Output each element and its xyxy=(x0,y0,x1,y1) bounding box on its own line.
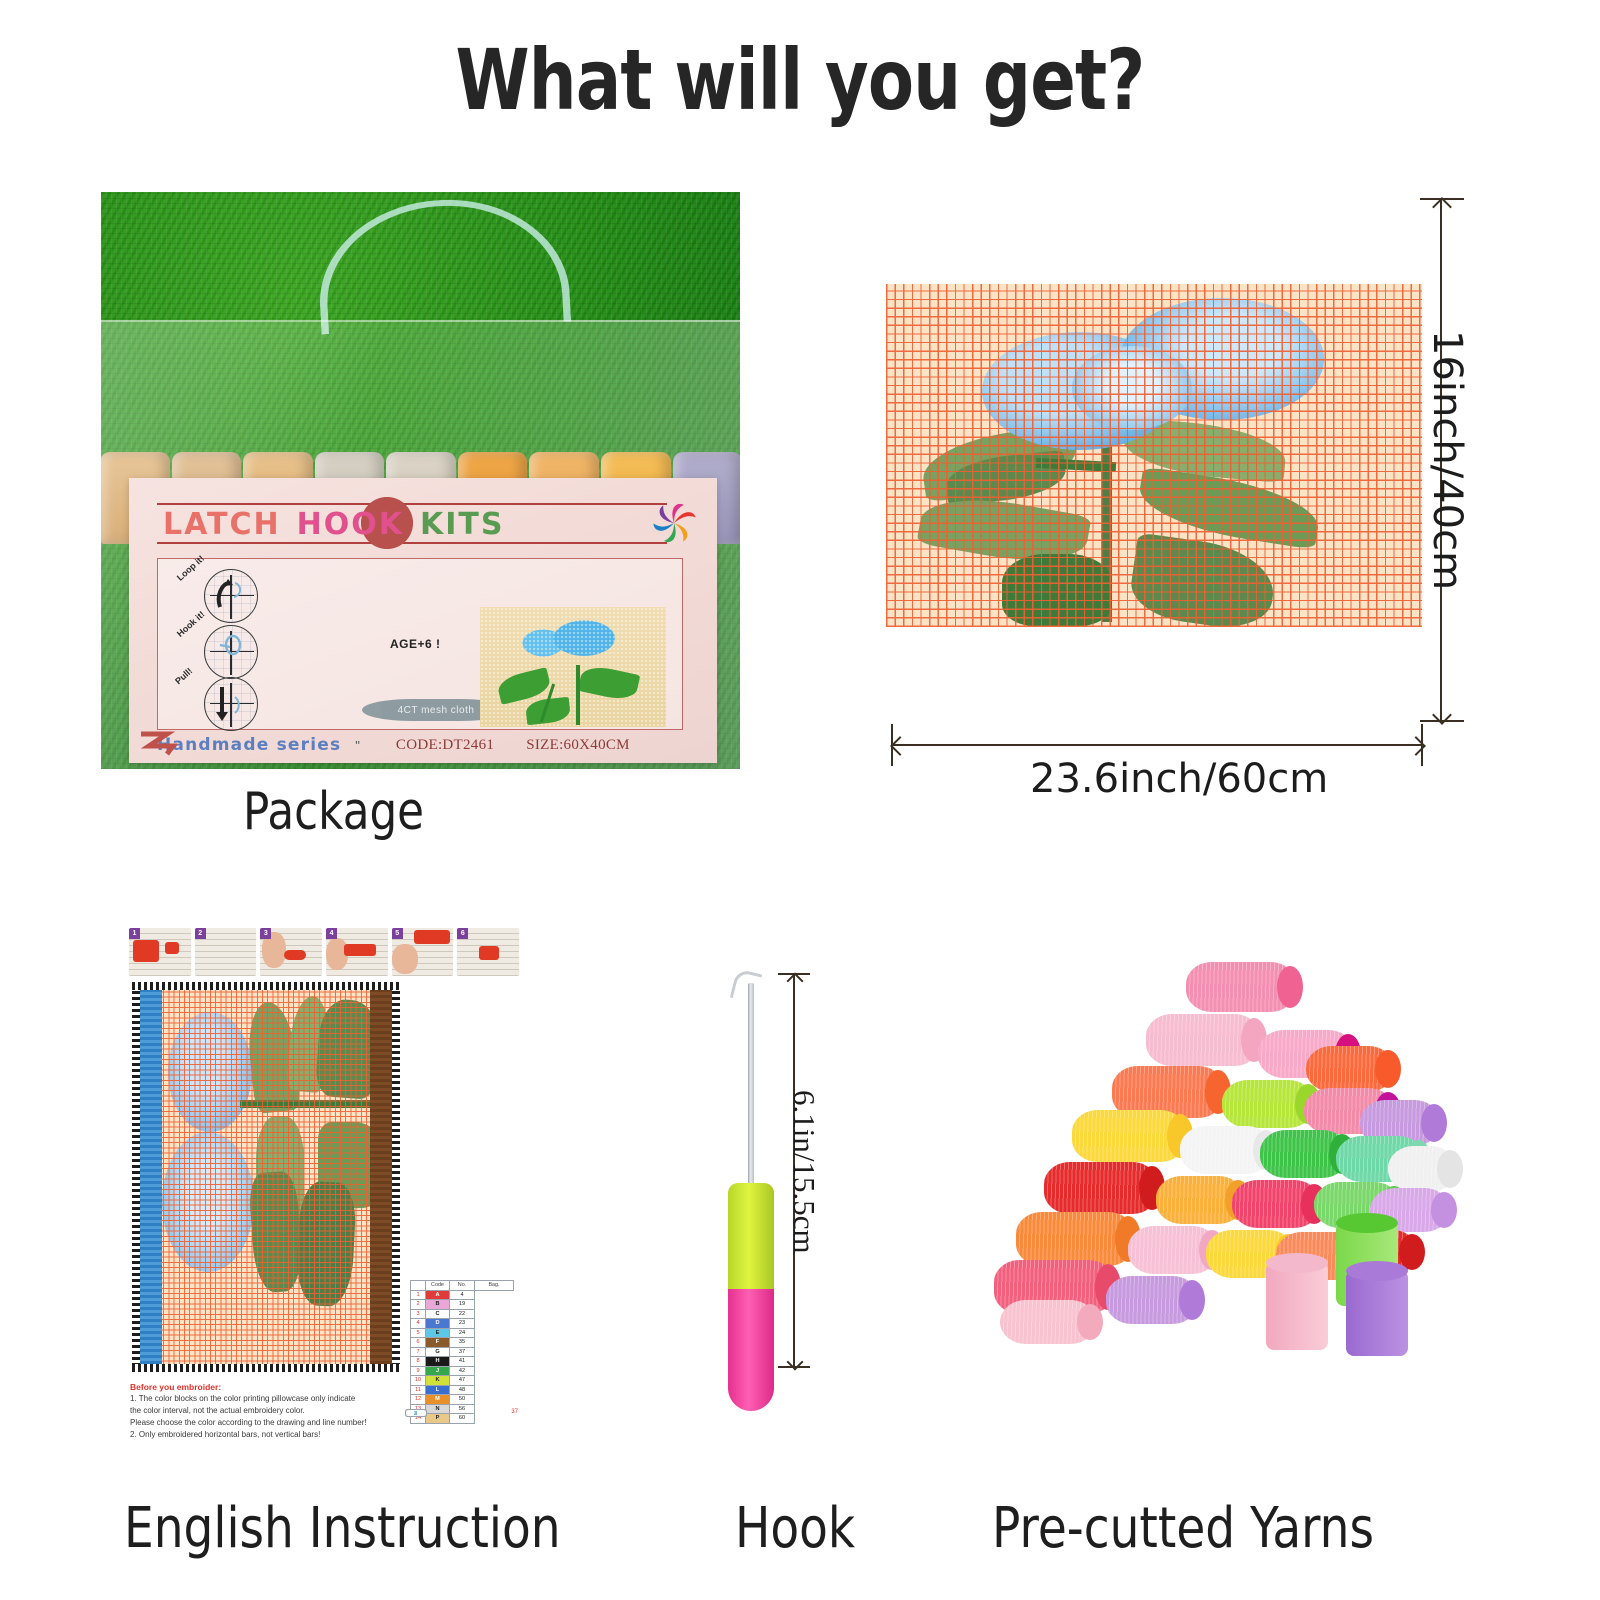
plastic-bag: LATCH HOOK KITS xyxy=(101,320,740,769)
color-swatch: B xyxy=(426,1300,449,1309)
color-swatch: G xyxy=(426,1348,449,1357)
cell-code: A xyxy=(426,1290,450,1300)
pattern-chart xyxy=(132,982,400,1372)
cell-code: B xyxy=(426,1300,450,1310)
cell-index: 5 xyxy=(411,1328,426,1338)
table-row: 9J421 xyxy=(411,1366,514,1376)
cell-index: 3 xyxy=(411,1309,426,1319)
cell-code: D xyxy=(426,1319,450,1329)
color-swatch: M xyxy=(426,1395,449,1404)
label-footer: Handmade series " CODE:DT2461 SIZE:60X40… xyxy=(157,732,687,758)
hook-handle-lower xyxy=(728,1289,774,1411)
cell-index: 11 xyxy=(411,1385,426,1395)
infographic-page: What will you get? xyxy=(0,0,1600,1600)
step-thumbnail: 4 xyxy=(326,928,388,976)
cell-number: 35 xyxy=(450,1338,475,1348)
cell-code: G xyxy=(426,1347,450,1357)
cell-index: 1 xyxy=(411,1290,426,1300)
step-loop-it: Loop it! xyxy=(204,569,258,623)
cell-code: H xyxy=(426,1357,450,1367)
yarn-bundle xyxy=(1388,1146,1456,1192)
printed-canvas xyxy=(886,284,1422,627)
cell-number: 19 xyxy=(450,1300,475,1310)
cell-bag: 3 xyxy=(405,1409,427,1418)
product-code: CODE:DT2461 xyxy=(396,737,494,754)
th-bag: Bag. xyxy=(475,1281,514,1291)
cell-index: 8 xyxy=(411,1357,426,1367)
age-recommendation: AGE+6 ! xyxy=(390,637,441,651)
color-code-table: Code No. Bag. 1A422B1913C2244D2355E2426F… xyxy=(410,1280,514,1424)
step-number: 4 xyxy=(326,928,337,939)
chart-ruler-left xyxy=(132,982,140,1372)
th-no: No. xyxy=(450,1281,475,1291)
chart-ruler-top xyxy=(132,982,400,990)
yarn-bundle xyxy=(1180,1126,1272,1174)
color-table-total: 37 xyxy=(511,1409,518,1415)
cell-code: E xyxy=(426,1328,450,1338)
series-name: Handmade series xyxy=(157,735,341,755)
dim-canvas-width-label: 23.6inch/60cm xyxy=(1030,756,1328,802)
canvas-grid xyxy=(886,284,1422,627)
step-number: 2 xyxy=(195,928,206,939)
yarn-bundle xyxy=(1106,1276,1198,1324)
note-line: the color interval, not the actual embro… xyxy=(130,1405,380,1417)
table-row: 11L483 xyxy=(411,1385,514,1395)
brand-word-kits: KITS xyxy=(420,507,504,542)
color-swatch: F xyxy=(426,1338,449,1347)
step-label: Hook it! xyxy=(175,609,207,639)
cell-code: N xyxy=(426,1404,450,1414)
caption-english-instruction: English Instruction xyxy=(124,1496,561,1561)
yarn-bundle xyxy=(1232,1180,1320,1228)
table-row: 12M503 xyxy=(411,1395,514,1405)
th-code: Code xyxy=(426,1281,450,1291)
package-label: LATCH HOOK KITS xyxy=(129,478,717,763)
chart-left-color-band xyxy=(140,990,162,1364)
color-swatch: L xyxy=(426,1386,449,1395)
yarn-bundle xyxy=(1186,962,1296,1012)
yarn-bundle xyxy=(1156,1176,1244,1224)
cell-number: 41 xyxy=(450,1357,475,1367)
dim-hook-length-label: 6.1in/15.5cm xyxy=(786,1090,822,1254)
cell-number: 48 xyxy=(450,1385,475,1395)
dim-canvas-height-label: 16inch/40cm xyxy=(1424,330,1470,590)
step-hook-it: Hook it! xyxy=(204,625,258,679)
cell-code: L xyxy=(426,1385,450,1395)
table-row: 7G373 xyxy=(411,1347,514,1357)
zigzag-logo-icon xyxy=(137,730,177,756)
table-row: 5E242 xyxy=(411,1328,514,1338)
cell-number: 4 xyxy=(450,1290,475,1300)
color-swatch: C xyxy=(426,1310,449,1319)
product-preview-image xyxy=(480,607,666,727)
table-row: 3C224 xyxy=(411,1309,514,1319)
table-row: 6F353 xyxy=(411,1338,514,1348)
brand-title: LATCH HOOK KITS xyxy=(163,503,673,545)
step-label: Loop it! xyxy=(175,553,206,583)
note-line: Please choose the color according to the… xyxy=(130,1417,380,1429)
hook-diagram-icon xyxy=(204,625,258,679)
caption-precut-yarns: Pre-cutted Yarns xyxy=(992,1496,1374,1561)
label-instruction-box: Loop it! Hook it! xyxy=(157,558,683,730)
color-swatch: H xyxy=(426,1357,449,1366)
hook-handle-upper xyxy=(728,1183,774,1291)
cell-number: 56 xyxy=(450,1404,475,1414)
chart-ruler-bottom xyxy=(132,1364,400,1372)
instruction-sheet: 1 2 3 4 5 xyxy=(124,900,524,1470)
cell-code: F xyxy=(426,1338,450,1348)
package-photo: LATCH HOOK KITS xyxy=(101,192,740,769)
cell-index: 6 xyxy=(411,1338,426,1348)
yarn-bundle xyxy=(1222,1080,1314,1128)
yarn-bundle xyxy=(1000,1300,1096,1344)
table-row: 1A42 xyxy=(411,1290,514,1300)
chart-ruler-right xyxy=(392,982,400,1372)
pattern-chart-grid xyxy=(132,982,400,1372)
cell-index: 4 xyxy=(411,1319,426,1329)
cell-number: 42 xyxy=(450,1366,475,1376)
cell-index: 10 xyxy=(411,1376,426,1386)
yarn-bundle xyxy=(1260,1130,1348,1178)
before-you-embroider-notes: Before you embroider: 1. The color block… xyxy=(130,1382,380,1441)
page-title: What will you get? xyxy=(160,36,1440,124)
yarn-bundle xyxy=(1072,1110,1186,1162)
cell-code: P xyxy=(426,1414,450,1424)
cell-index: 12 xyxy=(411,1395,426,1405)
table-row: 10K473 xyxy=(411,1376,514,1386)
loop-diagram-icon xyxy=(204,569,258,623)
th-index xyxy=(411,1281,426,1291)
cell-code: J xyxy=(426,1366,450,1376)
quote-mark: " xyxy=(355,738,360,753)
cell-number: 47 xyxy=(450,1376,475,1386)
hook-latch-tip-icon xyxy=(730,968,762,1003)
cell-code: K xyxy=(426,1376,450,1386)
cell-index: 7 xyxy=(411,1347,426,1357)
cell-index: 9 xyxy=(411,1366,426,1376)
hook-needle-shaft xyxy=(748,983,754,1193)
step-thumbnail-strip: 1 2 3 4 5 xyxy=(129,928,519,976)
color-swatch: E xyxy=(426,1329,449,1338)
step-label: Pull! xyxy=(173,666,194,686)
yarn-bundle xyxy=(1128,1226,1218,1274)
step-number: 3 xyxy=(260,928,271,939)
brand-word-latch: LATCH xyxy=(163,507,281,542)
yarn-bundle xyxy=(1044,1162,1158,1214)
color-swatch: N xyxy=(426,1405,449,1414)
brand-word-hook: HOOK xyxy=(297,507,404,542)
step-number: 1 xyxy=(129,928,140,939)
step-pull: Pull! xyxy=(204,677,258,731)
caption-hook: Hook xyxy=(735,1496,855,1561)
table-row: 2B191 xyxy=(411,1300,514,1310)
color-swatch: K xyxy=(426,1376,449,1385)
step-thumbnail: 2 xyxy=(195,928,257,976)
precut-yarn-pile xyxy=(960,930,1460,1410)
note-line: 2. Only embroidered horizontal bars, not… xyxy=(130,1429,380,1441)
yarn-spool xyxy=(1266,1262,1328,1350)
product-size: SIZE:60X40CM xyxy=(526,737,630,754)
step-number: 6 xyxy=(457,928,468,939)
yarn-spool xyxy=(1346,1270,1408,1356)
cell-number: 22 xyxy=(450,1309,475,1319)
color-swatch: P xyxy=(426,1414,449,1423)
table-header-row: Code No. Bag. xyxy=(411,1281,514,1291)
cell-code: M xyxy=(426,1395,450,1405)
cell-number: 60 xyxy=(450,1414,475,1424)
step-thumbnail: 3 xyxy=(260,928,322,976)
cell-number: 24 xyxy=(450,1328,475,1338)
cell-code: C xyxy=(426,1309,450,1319)
yarn-bundle xyxy=(1016,1212,1134,1266)
table-row: 8H413 xyxy=(411,1357,514,1367)
color-swatch: A xyxy=(426,1291,449,1300)
table-row: 14P603 xyxy=(411,1414,514,1424)
color-swatch: J xyxy=(426,1367,449,1376)
step-number: 5 xyxy=(392,928,403,939)
pull-diagram-icon xyxy=(204,677,258,731)
yarn-bundle xyxy=(1306,1046,1394,1092)
yarn-bundle xyxy=(1146,1014,1260,1066)
cell-index: 2 xyxy=(411,1300,426,1310)
pattern-chart-canvas xyxy=(132,982,400,1372)
note-line: 1. The color blocks on the color printin… xyxy=(130,1393,380,1405)
cell-number: 50 xyxy=(450,1395,475,1405)
chart-right-color-band xyxy=(370,990,392,1364)
cell-number: 37 xyxy=(450,1347,475,1357)
notes-header: Before you embroider: xyxy=(130,1382,380,1392)
color-swatch: D xyxy=(426,1319,449,1328)
caption-package: Package xyxy=(243,782,424,842)
step-thumbnail: 6 xyxy=(457,928,519,976)
cell-number: 23 xyxy=(450,1319,475,1329)
table-row: 4D235 xyxy=(411,1319,514,1329)
dim-horizontal-line xyxy=(893,744,1423,746)
step-thumbnail: 5 xyxy=(392,928,454,976)
step-thumbnail: 1 xyxy=(129,928,191,976)
pinwheel-logo-icon xyxy=(647,496,701,550)
